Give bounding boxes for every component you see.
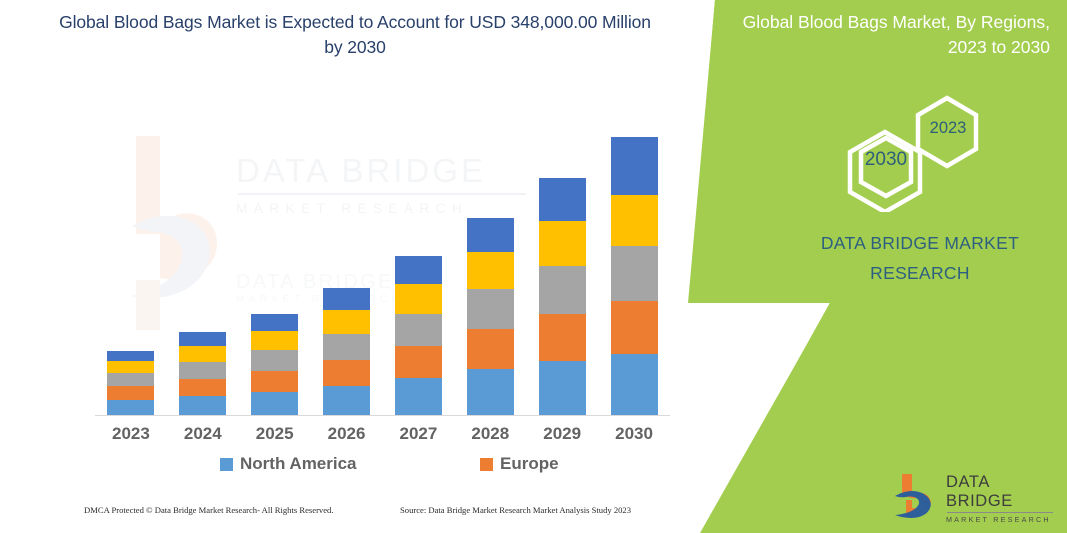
logo-divider <box>947 512 1053 513</box>
bar-column <box>395 256 442 416</box>
x-axis-label: 2026 <box>311 424 383 444</box>
x-axis-line <box>95 415 670 416</box>
x-axis-labels: 20232024202520262027202820292030 <box>95 424 670 450</box>
data-bridge-logo-icon <box>893 472 941 518</box>
bar-column <box>611 137 658 416</box>
logo-text: DATA BRIDGE MARKET RESEARCH <box>946 473 1056 524</box>
hexagon-badges: 2030 2023 <box>810 92 1010 212</box>
x-axis-label: 2024 <box>167 424 239 444</box>
page-title: Global Blood Bags Market is Expected to … <box>50 10 660 60</box>
hexagon-2030-label: 2030 <box>836 149 936 171</box>
bar-segment <box>179 332 226 346</box>
bar-segment <box>323 334 370 360</box>
legend-item[interactable]: North America <box>220 454 357 474</box>
hexagon-2023-label: 2023 <box>907 119 989 138</box>
bar-segment <box>395 314 442 346</box>
bar-segment <box>107 361 154 373</box>
bar-column <box>251 314 298 416</box>
bar-segment <box>611 137 658 195</box>
x-axis-label: 2023 <box>95 424 167 444</box>
bar-segment <box>539 178 586 221</box>
bar-segment <box>179 396 226 416</box>
bar-column <box>107 351 154 416</box>
bar-segment <box>467 329 514 369</box>
bar-segment <box>611 195 658 246</box>
bar-segment <box>323 310 370 334</box>
bar-segment <box>107 400 154 416</box>
legend-label: North America <box>240 454 357 474</box>
bar-segment <box>395 256 442 284</box>
chart-legend: North AmericaEurope <box>95 454 670 480</box>
bar-segment <box>539 266 586 314</box>
logo-title: DATA BRIDGE <box>946 473 1056 511</box>
x-axis-label: 2025 <box>239 424 311 444</box>
legend-swatch-icon <box>480 458 493 471</box>
chart-panel: Global Blood Bags Market is Expected to … <box>0 0 720 533</box>
bar-segment <box>467 369 514 416</box>
bar-segment <box>107 351 154 361</box>
bar-column <box>323 288 370 416</box>
bar-segment <box>539 314 586 361</box>
footer-copyright: DMCA Protected © Data Bridge Market Rese… <box>84 505 334 515</box>
footer-source: Source: Data Bridge Market Research Mark… <box>400 505 631 515</box>
bar-segment <box>251 371 298 392</box>
legend-swatch-icon <box>220 458 233 471</box>
brand-logo: DATA BRIDGE MARKET RESEARCH <box>893 472 1053 518</box>
bar-segment <box>395 284 442 314</box>
infographic-page: Global Blood Bags Market is Expected to … <box>0 0 1067 533</box>
bar-column <box>539 178 586 416</box>
legend-label: Europe <box>500 454 559 474</box>
bar-segment <box>467 289 514 329</box>
plot-area <box>95 110 670 416</box>
bar-segment <box>395 378 442 416</box>
bar-segment <box>395 346 442 378</box>
bar-column <box>179 332 226 416</box>
bar-segment <box>107 373 154 386</box>
bar-segment <box>611 246 658 301</box>
bar-segment <box>467 218 514 252</box>
x-axis-label: 2028 <box>454 424 526 444</box>
bar-segment <box>467 252 514 289</box>
bar-segment <box>179 346 226 362</box>
bar-segment <box>611 354 658 416</box>
company-name: DATA BRIDGE MARKET RESEARCH <box>790 228 1050 288</box>
footer: DMCA Protected © Data Bridge Market Rese… <box>0 505 700 525</box>
bar-segment <box>323 360 370 386</box>
x-axis-label: 2027 <box>382 424 454 444</box>
bar-segment <box>611 301 658 354</box>
bar-segment <box>251 331 298 350</box>
x-axis-label: 2029 <box>526 424 598 444</box>
bar-segment <box>251 350 298 371</box>
bar-segment <box>179 379 226 396</box>
bar-segment <box>323 386 370 416</box>
bar-segment <box>179 362 226 379</box>
legend-item[interactable]: Europe <box>480 454 559 474</box>
bar-segment <box>539 221 586 266</box>
bar-column <box>467 218 514 416</box>
logo-subtitle: MARKET RESEARCH <box>946 515 1056 524</box>
bar-segment <box>107 386 154 400</box>
bar-segment <box>251 314 298 331</box>
bar-segment <box>539 361 586 416</box>
bar-segment <box>251 392 298 416</box>
panel-title: Global Blood Bags Market, By Regions, 20… <box>725 10 1050 60</box>
x-axis-label: 2030 <box>598 424 670 444</box>
bar-segment <box>323 288 370 310</box>
